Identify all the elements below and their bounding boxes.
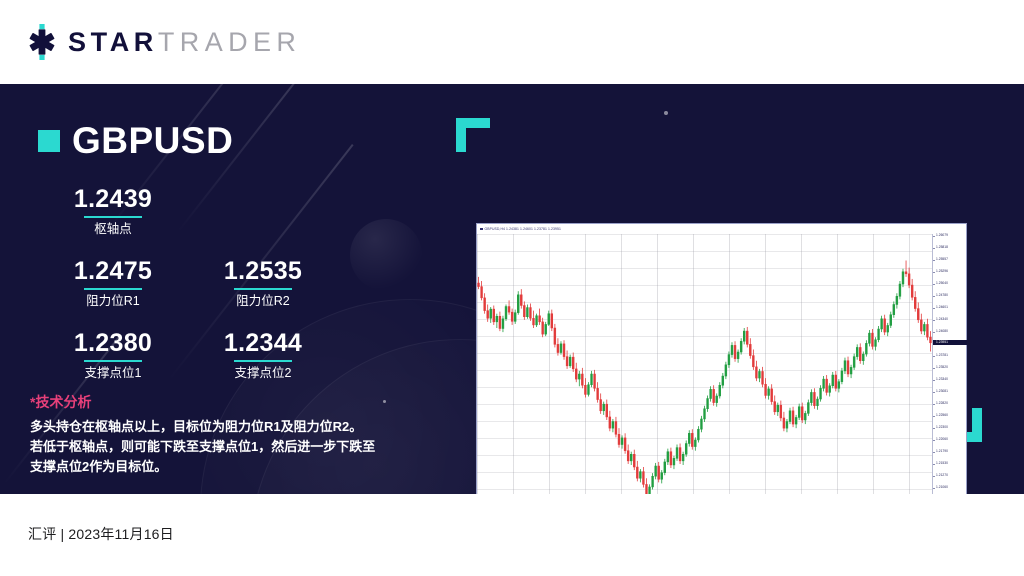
level-underline <box>234 288 292 290</box>
price-tick-label: 1.21790 <box>936 450 948 453</box>
level-support-2: 1.2344 支撑点位2 <box>188 329 338 387</box>
instrument-panel: GBPUSD 1.2439 枢轴点 1.2475 阻力位R1 1.2535 <box>38 122 438 387</box>
level-support-1: 1.2380 支撑点位1 <box>38 329 188 387</box>
chart-plot-area <box>477 234 932 494</box>
price-tick-label: 1.21530 <box>936 462 948 465</box>
analysis-line-3: 支撑点位2作为目标位。 <box>30 457 402 477</box>
pivot-levels: 1.2439 枢轴点 1.2475 阻力位R1 1.2535 阻力位R2 <box>38 185 338 387</box>
price-tick-label: 1.22060 <box>936 438 948 441</box>
logo-text-trader: TRADER <box>158 27 301 57</box>
instrument-title-row: GBPUSD <box>38 122 438 159</box>
pivot-row-pivot: 1.2439 枢轴点 <box>38 185 338 243</box>
level-resistance-2: 1.2535 阻力位R2 <box>188 257 338 315</box>
price-tick-label: 1.21060 <box>936 486 948 489</box>
price-tick-mark <box>933 332 935 333</box>
pivot-row-resistance: 1.2475 阻力位R1 1.2535 阻力位R2 <box>38 257 338 315</box>
price-tick-label: 1.23340 <box>936 378 948 381</box>
price-tick-mark <box>933 392 935 393</box>
price-tick-mark <box>933 320 935 321</box>
pivot-row-support: 1.2380 支撑点位1 1.2344 支撑点位2 <box>38 329 338 387</box>
price-tick-label: 1.24080 <box>936 330 948 333</box>
price-tick-mark <box>933 272 935 273</box>
price-tick-mark <box>933 296 935 297</box>
level-underline <box>84 216 142 218</box>
level-label: 阻力位R1 <box>38 294 188 309</box>
price-tick-label: 1.24601 <box>936 306 948 309</box>
main-stage: GBPUSD 1.2439 枢轴点 1.2475 阻力位R1 1.2535 <box>0 84 1024 494</box>
level-underline <box>234 360 292 362</box>
page-header: STARTRADER <box>0 0 1024 84</box>
current-price-marker: 1.23951 <box>933 340 967 345</box>
level-label: 支撑点位1 <box>38 366 188 381</box>
candlestick-series <box>477 234 932 494</box>
price-tick-label: 1.24780 <box>936 294 948 297</box>
page-title: GBPUSD <box>72 122 233 159</box>
price-chart[interactable]: GBPUSD,H4 1.24381 1.24601 1.23781 1.2395… <box>476 223 967 494</box>
price-tick-mark <box>933 476 935 477</box>
price-tick-label: 1.23781 <box>936 354 948 357</box>
level-value: 1.2535 <box>188 257 338 285</box>
price-tick-mark <box>933 428 935 429</box>
logo-text-star: STAR <box>68 27 158 57</box>
price-tick-label: 1.25296 <box>936 270 948 273</box>
price-tick-mark <box>933 308 935 309</box>
level-value: 1.2439 <box>38 185 188 213</box>
chart-header: GBPUSD,H4 1.24381 1.24601 1.23781 1.2395… <box>477 224 966 234</box>
analysis-title: *技术分析 <box>30 392 402 412</box>
price-tick-label: 1.26079 <box>936 234 948 237</box>
price-tick-label: 1.25557 <box>936 258 948 261</box>
price-tick-mark <box>933 404 935 405</box>
price-tick-mark <box>933 440 935 441</box>
chart-header-bullet-icon <box>480 228 483 231</box>
price-tick-label: 1.23520 <box>936 366 948 369</box>
price-tick-label: 1.24340 <box>936 318 948 321</box>
price-tick-mark <box>933 464 935 465</box>
analysis-body: 多头持仓在枢轴点以上，目标位为阻力位R1及阻力位R2。 若低于枢轴点，则可能下跌… <box>30 417 402 476</box>
price-tick-mark <box>933 416 935 417</box>
technical-analysis: *技术分析 多头持仓在枢轴点以上，目标位为阻力位R1及阻力位R2。 若低于枢轴点… <box>30 392 402 476</box>
price-tick-label: 1.22820 <box>936 402 948 405</box>
page-footer: 汇评 | 2023年11月16日 <box>0 494 1024 576</box>
price-tick-label: 1.21270 <box>936 474 948 477</box>
price-tick-mark <box>933 236 935 237</box>
price-tick-label: 1.25040 <box>936 282 948 285</box>
level-label: 枢轴点 <box>38 222 188 237</box>
brand-logo[interactable]: STARTRADER <box>25 24 301 60</box>
level-resistance-1: 1.2475 阻力位R1 <box>38 257 188 315</box>
price-axis: 1.260791.258181.255571.252961.250401.247… <box>932 234 966 494</box>
price-tick-mark <box>933 452 935 453</box>
square-marker-icon <box>38 130 60 152</box>
price-tick-mark <box>933 488 935 489</box>
price-tick-mark <box>933 284 935 285</box>
price-tick-mark <box>933 248 935 249</box>
level-label: 阻力位R2 <box>188 294 338 309</box>
level-value: 1.2344 <box>188 329 338 357</box>
level-value: 1.2380 <box>38 329 188 357</box>
price-tick-mark <box>933 356 935 357</box>
corner-bracket-topleft-icon <box>456 118 490 152</box>
level-value: 1.2475 <box>38 257 188 285</box>
price-tick-mark <box>933 380 935 381</box>
price-tick-label: 1.22560 <box>936 414 948 417</box>
level-underline <box>84 360 142 362</box>
price-tick-mark <box>933 368 935 369</box>
price-tick-mark <box>933 260 935 261</box>
price-tick-label: 1.22300 <box>936 426 948 429</box>
price-tick-label: 1.25818 <box>936 246 948 249</box>
chart-header-text: GBPUSD,H4 1.24381 1.24601 1.23781 1.2395… <box>485 227 562 231</box>
analysis-line-2: 若低于枢轴点，则可能下跌至支撑点位1，然后进一步下跌至 <box>30 437 402 457</box>
level-underline <box>84 288 142 290</box>
asterisk-star-icon <box>25 24 59 60</box>
price-tick-label: 1.23081 <box>936 390 948 393</box>
chart-zone: GBPUSD,H4 1.24381 1.24601 1.23781 1.2395… <box>440 104 1012 476</box>
footer-caption: 汇评 | 2023年11月16日 <box>28 524 174 544</box>
level-pivot: 1.2439 枢轴点 <box>38 185 188 243</box>
level-label: 支撑点位2 <box>188 366 338 381</box>
analysis-line-1: 多头持仓在枢轴点以上，目标位为阻力位R1及阻力位R2。 <box>30 417 402 437</box>
